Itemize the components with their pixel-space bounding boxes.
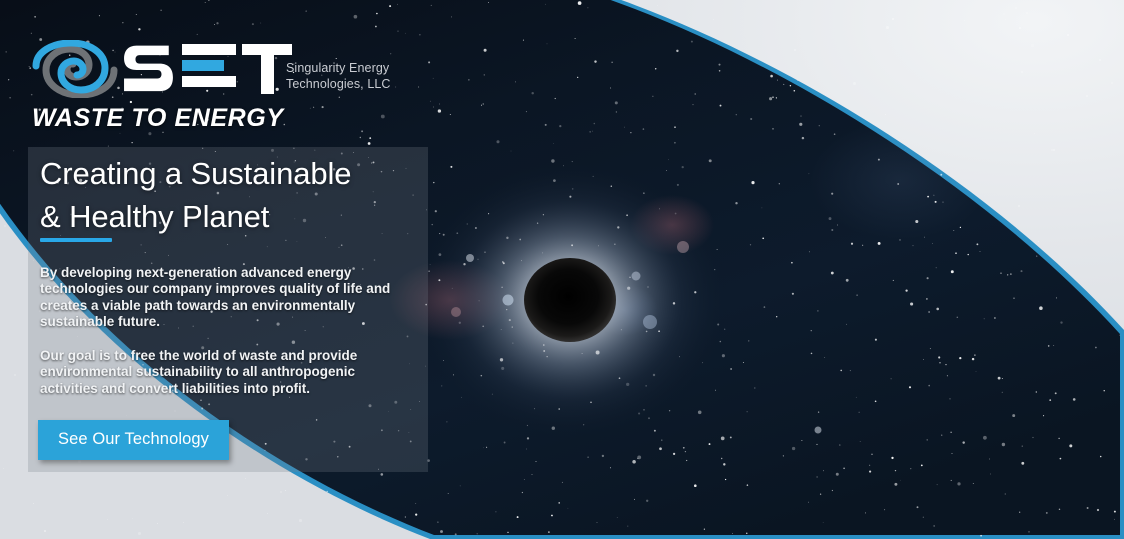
page-title: Creating a Sustainable & Healthy Planet xyxy=(40,152,351,238)
set-wordmark xyxy=(124,34,292,100)
see-our-technology-button[interactable]: See Our Technology xyxy=(38,420,229,460)
e-middle-bar-accent xyxy=(182,60,224,71)
hero-paragraph-2: Our goal is to free the world of waste a… xyxy=(40,348,402,397)
accent-underline xyxy=(40,238,112,242)
brand-tagline: WASTE TO ENERGY xyxy=(32,104,284,133)
logo-row: Singularity Energy Technologies, LLC xyxy=(28,36,408,102)
hero-banner: Singularity Energy Technologies, LLC WAS… xyxy=(0,0,1124,539)
brand-logo[interactable]: Singularity Energy Technologies, LLC WAS… xyxy=(28,36,408,140)
black-hole xyxy=(524,258,616,342)
brand-subtitle: Singularity Energy Technologies, LLC xyxy=(286,60,391,92)
double-spiral-icon xyxy=(30,40,122,98)
hero-paragraph-1: By developing next-generation advanced e… xyxy=(40,265,402,331)
